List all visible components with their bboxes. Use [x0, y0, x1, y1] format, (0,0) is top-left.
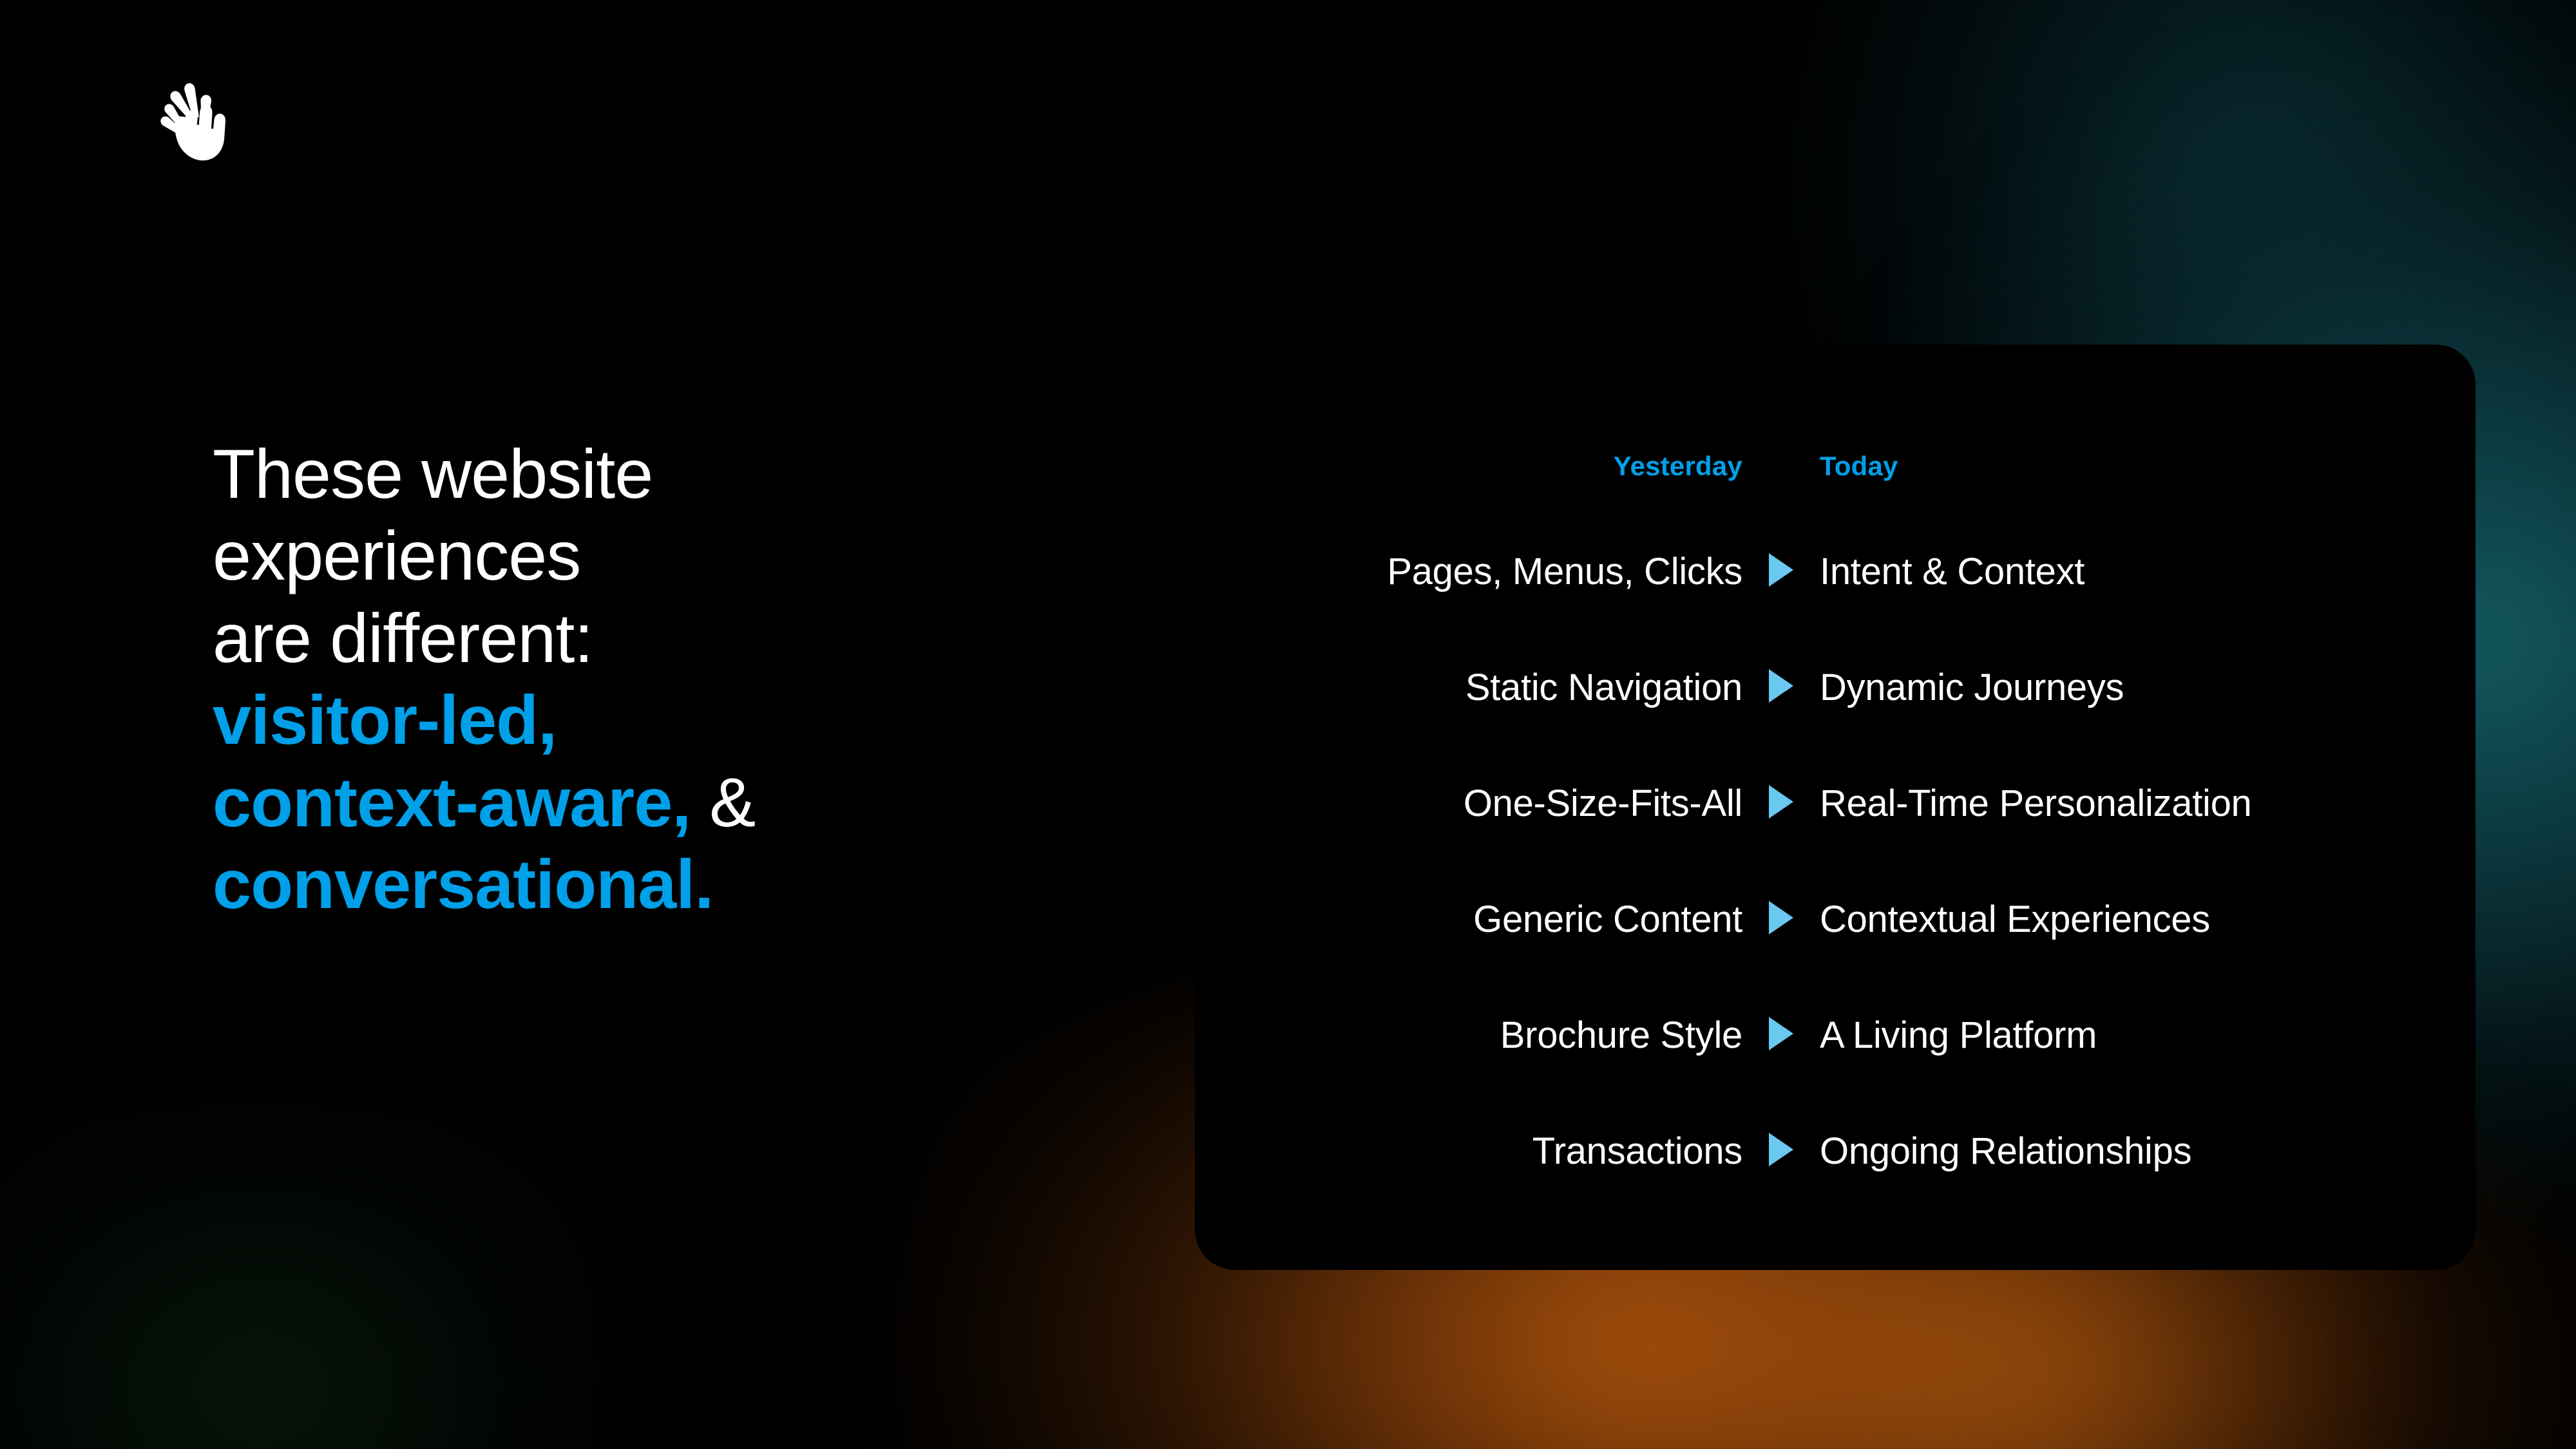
- headline-ampersand: &: [691, 763, 755, 841]
- headline-line-3: are different:: [213, 597, 1063, 679]
- comparison-card: Yesterday Today Pages, Menus, Clicks Int…: [1195, 345, 2476, 1270]
- table-row: Transactions Ongoing Relationships: [1195, 1093, 2476, 1209]
- play-triangle-right-icon: [1769, 901, 1793, 934]
- table-row: One-Size-Fits-All Real-Time Personalizat…: [1195, 745, 2476, 861]
- play-triangle-right-icon: [1769, 1133, 1793, 1166]
- play-triangle-right-icon: [1769, 553, 1793, 587]
- cell-today: Ongoing Relationships: [1820, 1130, 2191, 1172]
- table-row: Pages, Menus, Clicks Intent & Context: [1195, 513, 2476, 629]
- headline-line-1: These website: [213, 433, 1063, 515]
- waving-hand-icon: [152, 82, 227, 162]
- cell-yesterday: Pages, Menus, Clicks: [1387, 551, 1742, 592]
- cell-today: Intent & Context: [1820, 551, 2085, 592]
- play-triangle-right-icon: [1769, 1017, 1793, 1050]
- comparison-header-row: Yesterday Today: [1195, 451, 2476, 482]
- comparison-rows: Pages, Menus, Clicks Intent & Context St…: [1195, 513, 2476, 1209]
- headline-accent-1: visitor-led,: [213, 681, 557, 759]
- headline-accent-3: conversational.: [213, 845, 713, 923]
- cell-yesterday: Brochure Style: [1500, 1014, 1742, 1056]
- play-triangle-right-icon: [1769, 785, 1793, 819]
- cell-today: Real-Time Personalization: [1820, 782, 2252, 824]
- table-row: Static Navigation Dynamic Journeys: [1195, 629, 2476, 745]
- column-header-yesterday: Yesterday: [1614, 451, 1742, 481]
- cell-today: Dynamic Journeys: [1820, 667, 2124, 708]
- table-row: Generic Content Contextual Experiences: [1195, 861, 2476, 977]
- cell-yesterday: Transactions: [1532, 1130, 1742, 1172]
- cell-yesterday: Static Navigation: [1465, 667, 1742, 708]
- column-header-today: Today: [1820, 451, 1898, 481]
- cell-yesterday: One-Size-Fits-All: [1464, 782, 1742, 824]
- slide-canvas: These website experiences are different:…: [0, 0, 2576, 1449]
- headline-accent-2: context-aware,: [213, 763, 691, 841]
- cell-yesterday: Generic Content: [1473, 898, 1742, 940]
- play-triangle-right-icon: [1769, 669, 1793, 703]
- background-glow-green-bottom-left: [0, 1127, 580, 1449]
- table-row: Brochure Style A Living Platform: [1195, 977, 2476, 1093]
- headline-line-2: experiences: [213, 515, 1063, 596]
- cell-today: Contextual Experiences: [1820, 898, 2210, 940]
- cell-today: A Living Platform: [1820, 1014, 2097, 1056]
- page-title: These website experiences are different:…: [213, 433, 1063, 925]
